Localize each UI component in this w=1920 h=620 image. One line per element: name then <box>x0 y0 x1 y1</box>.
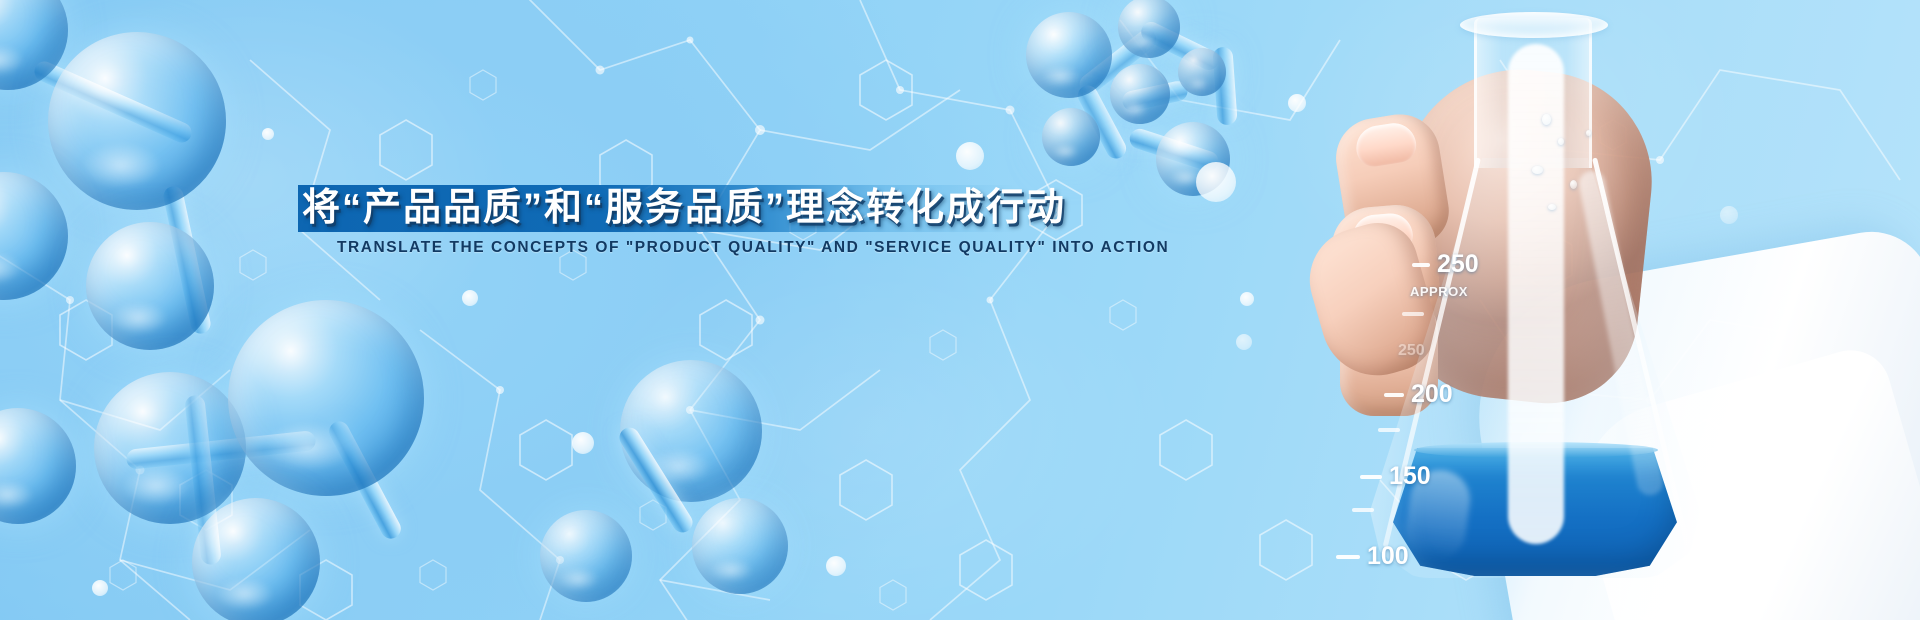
graduation-approx: APPROX <box>1410 284 1468 299</box>
banner-headline: 将“产品品质”和“服务品质”理念转化成行动 <box>302 184 1066 232</box>
banner-subtitle: TRANSLATE THE CONCEPTS OF "PRODUCT QUALI… <box>337 239 1169 257</box>
scientist-hand-with-flask-photo: 250 APPROX 250 200 <box>1160 0 1920 620</box>
molecule-sphere <box>94 372 246 524</box>
molecule-sphere <box>1042 108 1100 166</box>
flask-lip <box>1460 12 1608 38</box>
molecule-sphere <box>192 498 320 620</box>
molecule-sphere <box>48 32 226 210</box>
hero-banner: 250 APPROX 250 200 <box>0 0 1920 620</box>
molecule-sphere <box>540 510 632 602</box>
graduation-label: 100 <box>1367 542 1409 571</box>
graduation-label: APPROX <box>1410 284 1468 299</box>
graduation-tick-mid <box>1378 428 1400 432</box>
graduation-label: 200 <box>1411 380 1453 409</box>
molecule-sphere <box>692 498 788 594</box>
molecule-sphere <box>1026 12 1112 98</box>
graduation-100: 100 <box>1336 542 1409 571</box>
molecule-sphere <box>620 360 762 502</box>
graduation-tick-lower <box>1352 508 1374 512</box>
graduation-250: 250 <box>1412 250 1479 279</box>
graduation-250-faint: 250 <box>1398 342 1425 360</box>
graduation-label: 250 <box>1398 342 1425 360</box>
erlenmeyer-flask: 250 APPROX 250 200 <box>1356 18 1716 578</box>
graduation-200: 200 <box>1384 380 1453 409</box>
molecule-sphere <box>86 222 214 350</box>
flask-highlight <box>1508 44 1564 544</box>
graduation-tick-upper <box>1402 312 1424 316</box>
graduation-label: 250 <box>1437 250 1479 279</box>
molecule-sphere <box>0 408 76 524</box>
molecule-sphere <box>228 300 424 496</box>
graduation-label: 150 <box>1389 462 1431 491</box>
graduation-150: 150 <box>1360 462 1431 491</box>
molecule-sphere <box>0 172 68 300</box>
